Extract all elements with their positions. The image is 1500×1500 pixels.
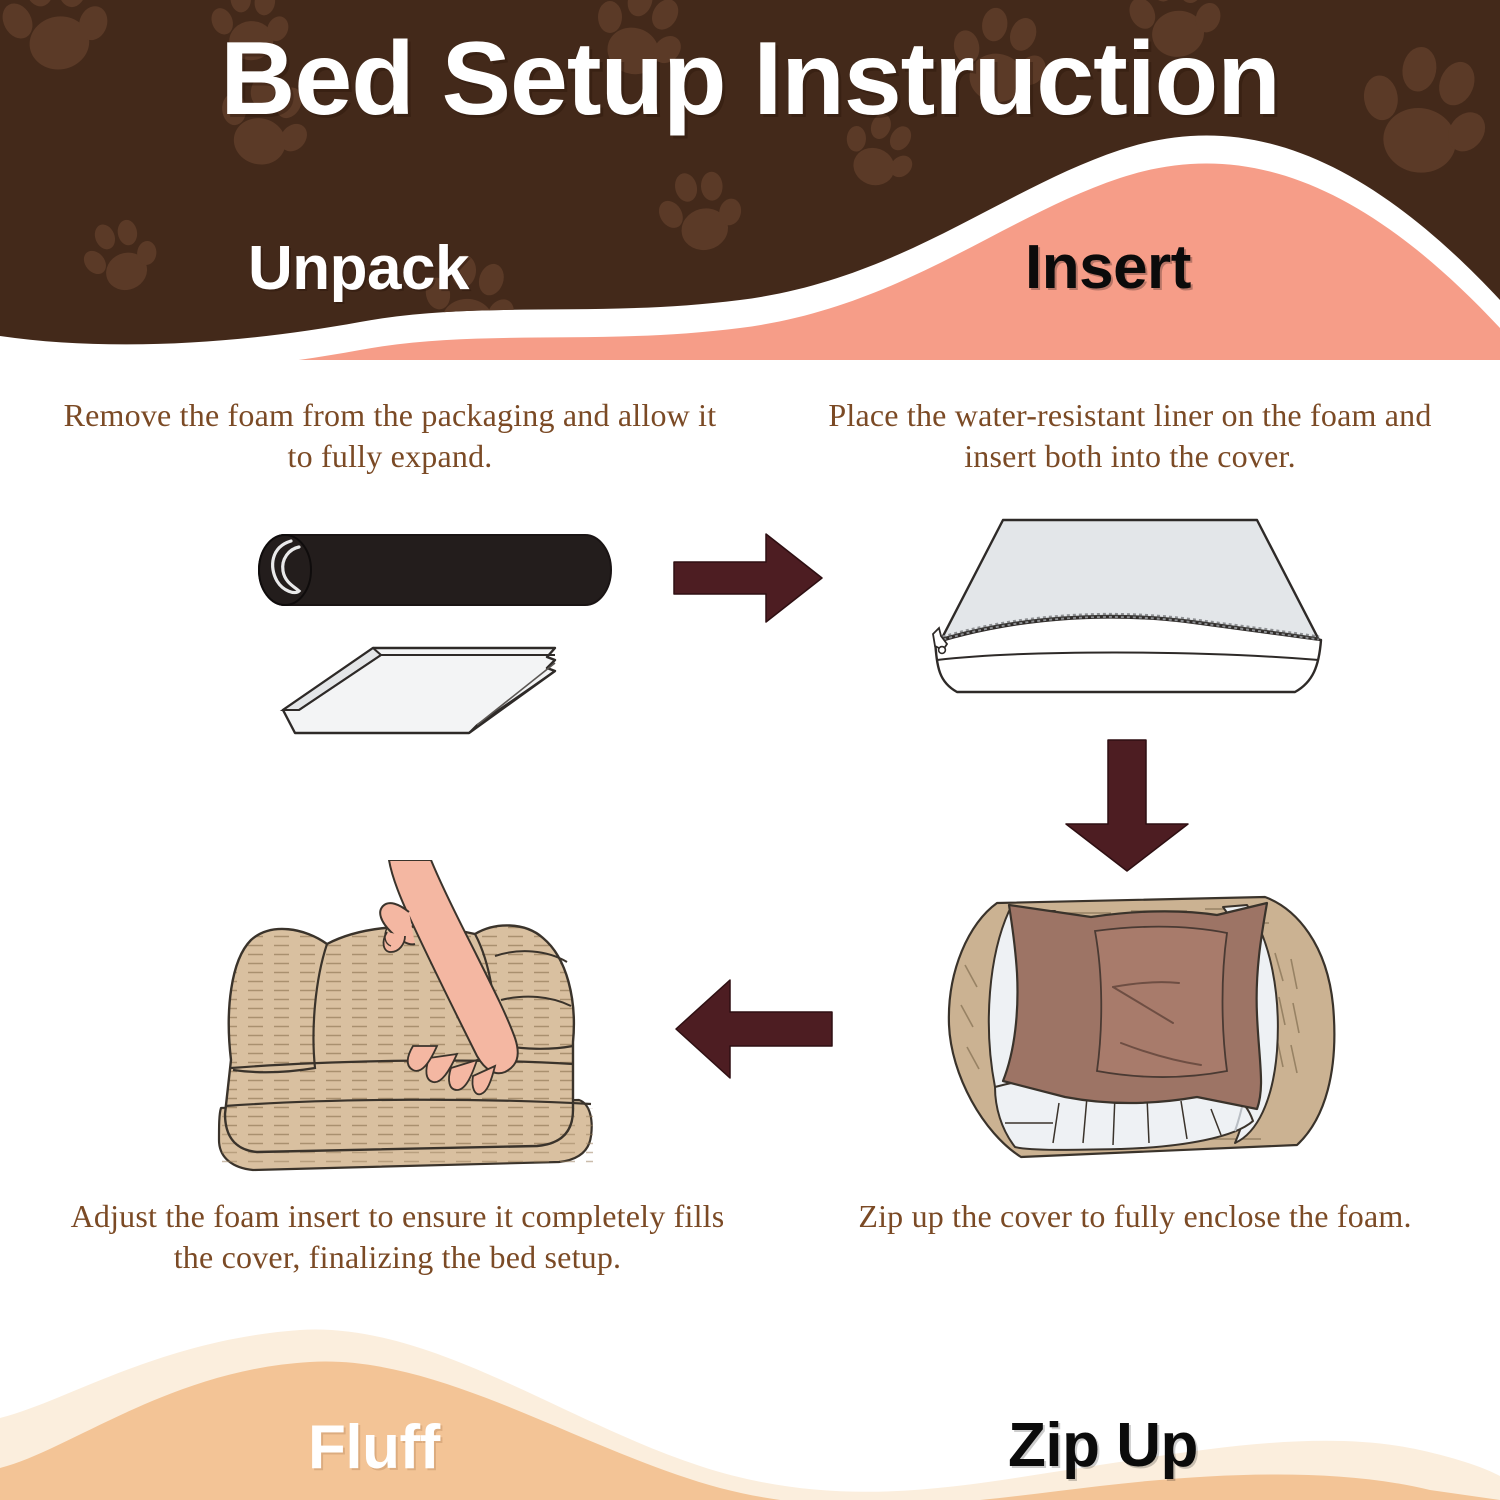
brown-foam-insert <box>1003 903 1267 1109</box>
footer-wave-graphic <box>0 1300 1500 1500</box>
illustration-zippered-cushion <box>895 500 1325 720</box>
caption-unpack: Remove the foam from the packaging and a… <box>60 395 720 477</box>
caption-zip-up: Zip up the cover to fully enclose the fo… <box>830 1196 1440 1237</box>
illustration-open-cover-with-foam <box>935 875 1345 1185</box>
step-label-insert: Insert <box>1025 232 1191 303</box>
header-banner: Bed Setup Instruction <box>0 0 1500 360</box>
step-label-fluff: Fluff <box>308 1412 440 1483</box>
arrow-left-zipup-to-fluff <box>674 978 834 1080</box>
arrow-down-insert-to-zipup <box>1062 738 1192 873</box>
footer-banner <box>0 1300 1500 1500</box>
illustration-rolled-foam-and-liner <box>255 505 635 745</box>
rolled-foam-icon <box>259 535 611 605</box>
folded-liner-icon <box>283 648 555 733</box>
illustration-hand-fluffing-bed <box>195 860 625 1180</box>
instruction-poster: Bed Setup Instruction Unpack Insert Remo… <box>0 0 1500 1500</box>
caption-insert: Place the water-resistant liner on the f… <box>800 395 1460 477</box>
step-label-unpack: Unpack <box>248 233 469 304</box>
footer-wave-front <box>0 1362 1500 1500</box>
caption-fluff: Adjust the foam insert to ensure it comp… <box>55 1196 740 1278</box>
arrow-right-unpack-to-insert <box>672 532 824 624</box>
page-title: Bed Setup Instruction <box>0 20 1500 139</box>
step-label-zip-up: Zip Up <box>1008 1410 1198 1481</box>
